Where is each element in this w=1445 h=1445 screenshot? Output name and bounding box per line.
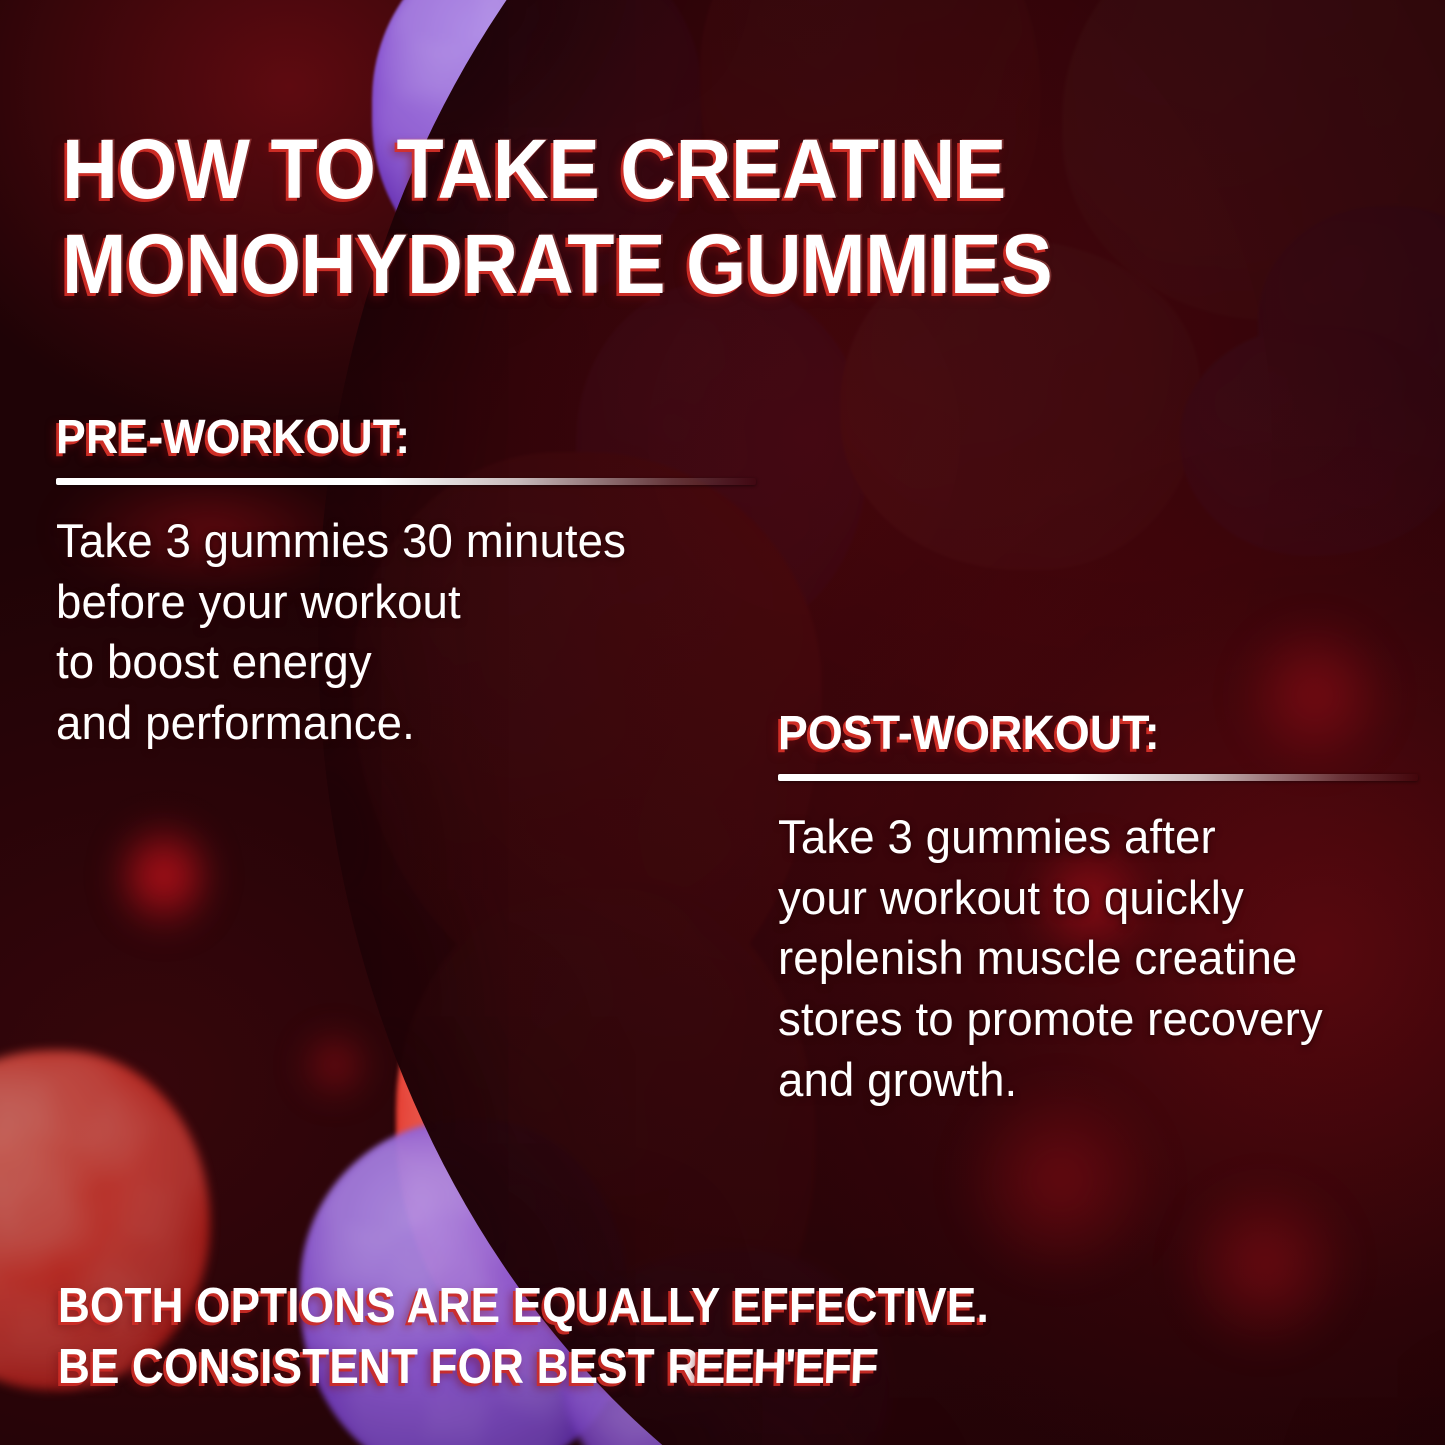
footer-line-1: BOTH OPTIONS ARE EQUALLY EFFECTIVE.: [58, 1276, 1138, 1337]
post-workout-heading: POST-WORKOUT:: [778, 710, 1373, 758]
pre-workout-heading: PRE-WORKOUT:: [56, 414, 707, 462]
page-title: HOW TO TAKE CREATINE MONOHYDRATE GUMMIES: [62, 122, 1203, 312]
footer-callout: BOTH OPTIONS ARE EQUALLY EFFECTIVE. BE C…: [58, 1276, 1138, 1398]
heading-underline-rule: [778, 774, 1418, 781]
post-workout-body: Take 3 gummies after your workout to qui…: [778, 807, 1399, 1110]
footer-garbled-word: EEH'EFF: [693, 1337, 877, 1398]
glow-spot: [1180, 1180, 1350, 1350]
infographic-poster: HOW TO TAKE CREATINE MONOHYDRATE GUMMIES…: [0, 0, 1445, 1445]
pre-workout-section: PRE-WORKOUT: Take 3 gummies 30 minutes b…: [56, 414, 756, 754]
footer-line-2-text: BE CONSISTENT FOR BEST R: [58, 1340, 699, 1394]
footer-line-2: BE CONSISTENT FOR BEST REEH'EFF: [58, 1337, 1138, 1398]
glow-spot: [118, 820, 210, 932]
post-workout-section: POST-WORKOUT: Take 3 gummies after your …: [778, 710, 1418, 1110]
heading-underline-rule: [56, 478, 756, 485]
pre-workout-body: Take 3 gummies 30 minutes before your wo…: [56, 511, 735, 754]
glow-spot: [300, 1030, 370, 1100]
